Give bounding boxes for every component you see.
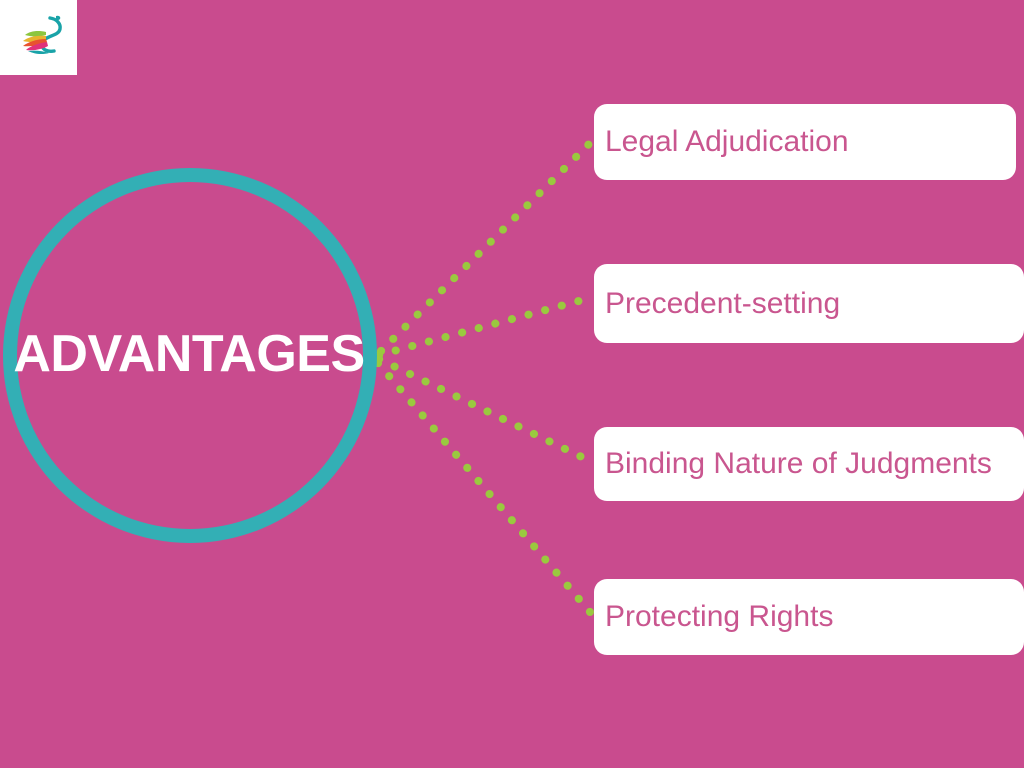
item-card-label: Binding Nature of Judgments <box>594 446 1003 482</box>
item-card-precedent-setting[interactable]: Precedent-setting <box>594 264 1024 343</box>
swan-logo-icon <box>16 10 64 62</box>
connector-line-0 <box>381 143 590 351</box>
item-card-label: Protecting Rights <box>594 599 844 635</box>
item-card-label: Precedent-setting <box>594 286 851 322</box>
item-card-label: Legal Adjudication <box>594 124 860 160</box>
connector-line-3 <box>378 363 590 612</box>
item-card-protecting-rights[interactable]: Protecting Rights <box>594 579 1024 655</box>
item-card-binding-nature-of-judgments[interactable]: Binding Nature of Judgments <box>594 427 1024 501</box>
slide-canvas: ADVANTAGES Legal Adjudication Precedent-… <box>0 0 1024 768</box>
item-card-legal-adjudication[interactable]: Legal Adjudication <box>594 104 1016 180</box>
connector-line-1 <box>379 298 590 355</box>
connector-line-2 <box>379 359 590 461</box>
hub-label: ADVANTAGES <box>0 322 378 386</box>
logo-plate <box>0 0 77 75</box>
